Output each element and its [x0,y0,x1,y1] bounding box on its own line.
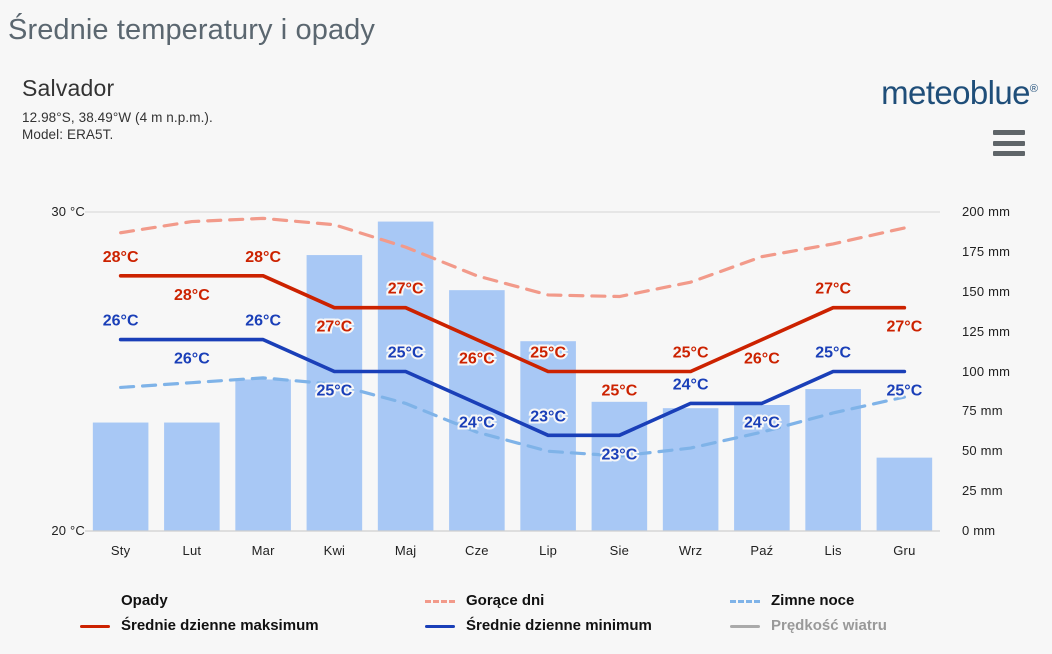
precip-bar[interactable] [235,379,291,531]
min-temp-swatch-icon [425,619,455,633]
data-label: 25°C [887,383,923,400]
series-line-rednie-dzienne-maksimum [121,276,905,372]
y2-axis-tick-label: 0 mm [962,523,995,538]
legend-item-max-temp[interactable]: Średnie dzienne maksimum [80,617,425,634]
data-label: 28°C [174,287,210,304]
x-axis-month-label: Mar [233,543,293,558]
precip-swatch-icon [80,594,110,608]
legend-item-wind-speed[interactable]: Prędkość wiatru [730,617,960,634]
legend-item-cold-nights[interactable]: Zimne noce [730,592,960,609]
legend-item-min-temp[interactable]: Średnie dzienne minimum [425,617,730,634]
data-label: 28°C [103,249,139,266]
legend-label-min-temp: Średnie dzienne minimum [466,617,652,634]
x-axis-month-label: Gru [874,543,934,558]
data-label: 25°C [602,383,638,400]
x-axis-month-label: Sie [589,543,649,558]
x-axis-month-label: Wrz [661,543,721,558]
data-label: 25°C [530,345,566,362]
precip-bar[interactable] [164,423,220,531]
x-axis-month-label: Paź [732,543,792,558]
data-label: 27°C [388,281,424,298]
y2-axis-tick-label: 25 mm [962,483,1003,498]
y2-axis-tick-label: 50 mm [962,443,1003,458]
x-axis-month-label: Cze [447,543,507,558]
cold-nights-swatch-icon [730,594,760,608]
y2-axis-tick-label: 100 mm [962,364,1010,379]
x-axis-month-label: Kwi [304,543,364,558]
precip-bar[interactable] [93,423,149,531]
data-label: 26°C [459,351,495,368]
x-axis-month-label: Lut [162,543,222,558]
y-axis-tick-label: 30 °C [51,204,85,219]
data-label: 26°C [103,313,139,330]
legend-label-wind-speed: Prędkość wiatru [771,617,887,634]
y2-axis-tick-label: 200 mm [962,204,1010,219]
precip-bar[interactable] [805,389,861,531]
data-label: 26°C [174,351,210,368]
x-axis-month-label: Sty [91,543,151,558]
data-label: 25°C [388,345,424,362]
precip-bar[interactable] [378,222,434,531]
data-label: 23°C [602,446,638,463]
precip-bar[interactable] [592,402,648,531]
legend-item-hot-days[interactable]: Gorące dni [425,592,730,609]
data-label: 25°C [317,383,353,400]
series-line-gor-ce-dni [121,218,905,296]
legend-label-hot-days: Gorące dni [466,592,544,609]
y2-axis-tick-label: 175 mm [962,244,1010,259]
data-label: 24°C [459,414,495,431]
max-temp-swatch-icon [80,619,110,633]
data-label: 24°C [673,376,709,393]
climate-chart-page: Średnie temperatury i opady Salvador 12.… [0,0,1052,654]
data-label: 26°C [744,351,780,368]
data-label: 24°C [744,414,780,431]
data-label: 25°C [815,345,851,362]
data-label: 23°C [530,408,566,425]
legend-item-precip[interactable]: Opady [80,592,425,609]
x-axis-month-label: Maj [376,543,436,558]
y-axis-tick-label: 20 °C [51,523,85,538]
x-axis-month-label: Lis [803,543,863,558]
data-label: 27°C [815,281,851,298]
chart-legend: Opady Gorące dni Zimne noce Średnie dzie… [80,588,960,638]
precip-bar[interactable] [663,408,719,531]
y2-axis-tick-label: 125 mm [962,324,1010,339]
data-label: 27°C [317,319,353,336]
data-label: 26°C [245,313,281,330]
data-label: 28°C [245,249,281,266]
y2-axis-tick-label: 150 mm [962,284,1010,299]
y2-axis-tick-label: 75 mm [962,403,1003,418]
x-axis-month-label: Lip [518,543,578,558]
wind-speed-swatch-icon [730,619,760,633]
precip-bar[interactable] [877,458,933,531]
data-label: 27°C [887,319,923,336]
hot-days-swatch-icon [425,594,455,608]
legend-label-precip: Opady [121,592,168,609]
legend-label-cold-nights: Zimne noce [771,592,854,609]
legend-label-max-temp: Średnie dzienne maksimum [121,617,319,634]
data-label: 25°C [673,345,709,362]
